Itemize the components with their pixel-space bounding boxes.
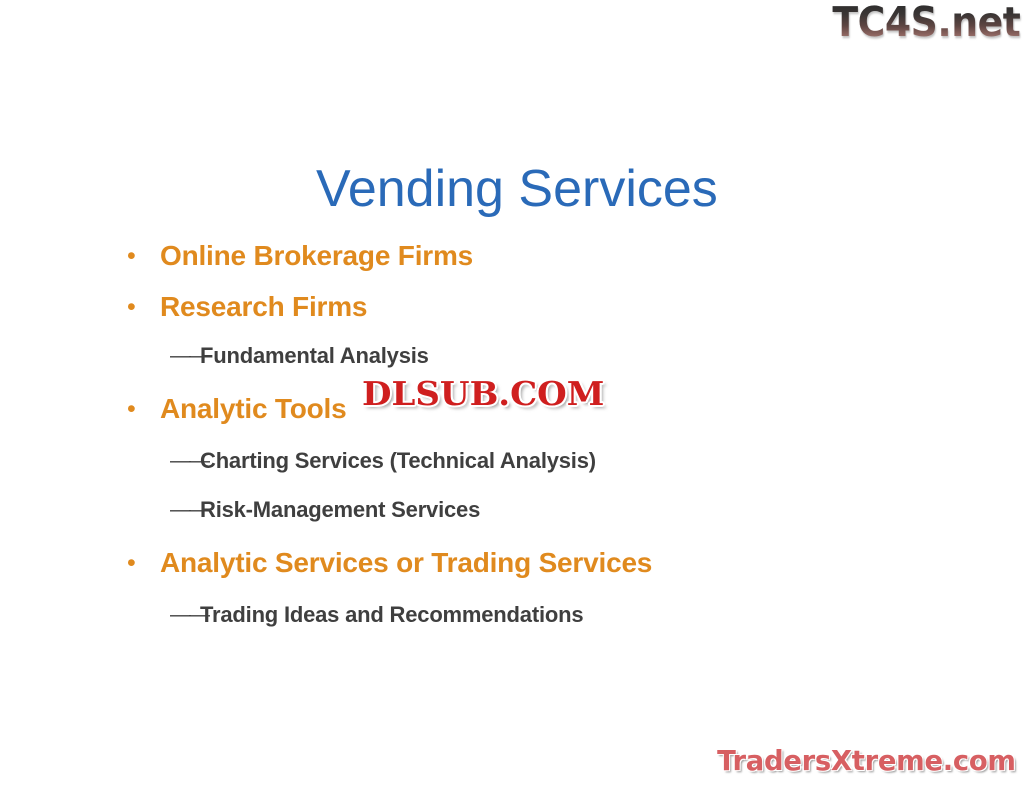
- list-item: • Online Brokerage Firms: [0, 236, 1024, 276]
- list-item-label: Fundamental Analysis: [200, 338, 429, 373]
- list-item-label: Analytic Services or Trading Services: [160, 543, 652, 583]
- bullet-dot-icon: •: [124, 389, 160, 429]
- list-item: —— Fundamental Analysis: [0, 338, 1024, 373]
- tradersxtreme-brand-logo: TradersXtreme.com: [717, 746, 1016, 777]
- bullet-dot-icon: •: [124, 236, 160, 276]
- bullet-dot-icon: •: [124, 287, 160, 327]
- list-item: —— Risk-Management Services: [0, 492, 1024, 527]
- list-item: • Analytic Services or Trading Services: [0, 543, 1024, 583]
- bullet-list: • Online Brokerage Firms • Research Firm…: [0, 236, 1024, 640]
- dlsub-watermark: DLSUB.COM: [362, 374, 604, 414]
- bullet-dot-icon: •: [124, 543, 160, 583]
- list-item-label: Trading Ideas and Recommendations: [200, 597, 583, 632]
- list-item: —— Charting Services (Technical Analysis…: [0, 443, 1024, 478]
- list-item-label: Risk-Management Services: [200, 492, 480, 527]
- list-item-label: Research Firms: [160, 287, 367, 327]
- list-item-label: Charting Services (Technical Analysis): [200, 443, 596, 478]
- list-item-label: Online Brokerage Firms: [160, 236, 473, 276]
- dash-icon: ——: [170, 597, 200, 632]
- dash-icon: ——: [170, 492, 200, 527]
- page-title: Vending Services: [316, 161, 718, 218]
- dash-icon: ——: [170, 338, 200, 373]
- dash-icon: ——: [170, 443, 200, 478]
- list-item: —— Trading Ideas and Recommendations: [0, 597, 1024, 632]
- list-item: • Research Firms: [0, 287, 1024, 327]
- presentation-slide: TC4S.net Vending Services • Online Broke…: [0, 0, 1024, 791]
- tc4s-brand-logo: TC4S.net: [832, 2, 1020, 43]
- list-item-label: Analytic Tools: [160, 389, 347, 429]
